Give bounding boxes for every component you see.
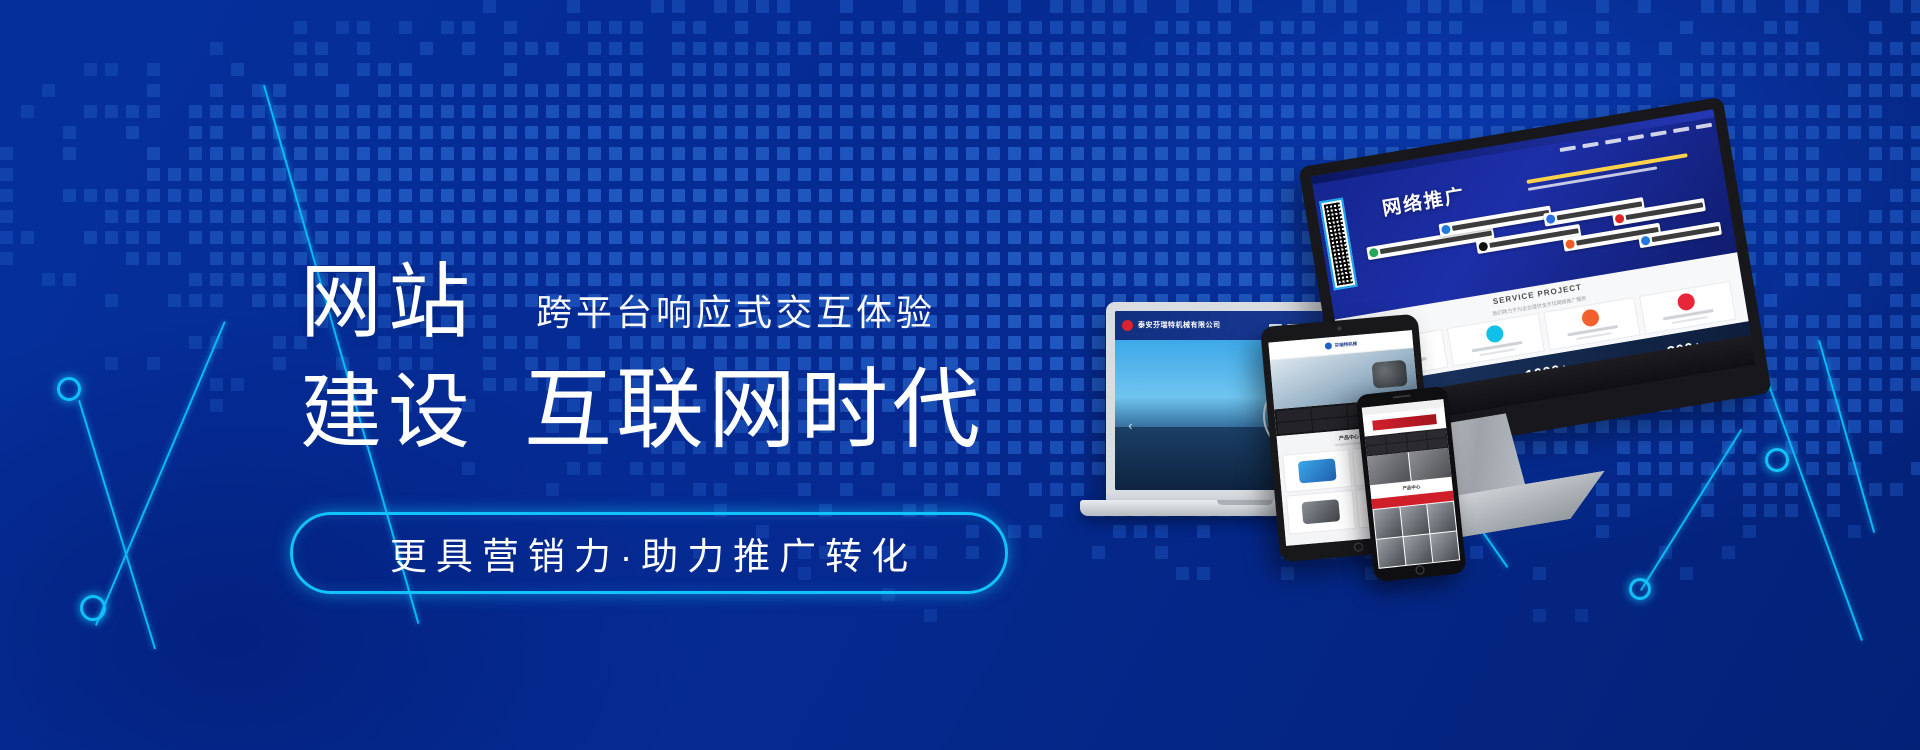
background-dot xyxy=(903,84,916,97)
partner-logo-icon xyxy=(1478,242,1488,252)
background-dot xyxy=(1785,105,1798,118)
background-dot xyxy=(798,210,811,223)
background-dot xyxy=(378,63,391,76)
background-dot xyxy=(987,21,1000,34)
background-dot xyxy=(1512,84,1525,97)
background-dot xyxy=(1050,483,1063,496)
background-dot xyxy=(273,336,286,349)
background-dot xyxy=(504,231,517,244)
background-dot xyxy=(504,84,517,97)
background-dot xyxy=(462,189,475,202)
background-dot xyxy=(147,63,160,76)
background-dot xyxy=(1134,63,1147,76)
background-dot xyxy=(336,231,349,244)
background-dot xyxy=(693,21,706,34)
background-dot xyxy=(1407,42,1420,55)
partner-logo-icon xyxy=(1546,214,1556,224)
background-dot xyxy=(756,105,769,118)
background-dot xyxy=(1386,42,1399,55)
background-dot xyxy=(252,105,265,118)
background-dot xyxy=(1890,84,1903,97)
background-dot xyxy=(1470,63,1483,76)
background-dot xyxy=(777,147,790,160)
background-dot xyxy=(1344,63,1357,76)
background-dot xyxy=(777,63,790,76)
background-dot xyxy=(630,168,643,181)
background-dot xyxy=(651,0,664,13)
background-dot xyxy=(273,84,286,97)
background-dot xyxy=(882,147,895,160)
background-dot xyxy=(966,168,979,181)
laptop-site-logo-icon xyxy=(1122,320,1133,331)
background-dot xyxy=(210,378,223,391)
background-dot xyxy=(1050,168,1063,181)
background-dot xyxy=(861,21,874,34)
background-dot xyxy=(588,147,601,160)
phone-product-image xyxy=(1400,505,1429,536)
background-dot xyxy=(147,147,160,160)
background-dot xyxy=(1743,63,1756,76)
background-dot xyxy=(546,126,559,139)
background-dot xyxy=(1911,84,1920,97)
background-dot xyxy=(1848,336,1861,349)
tablet-home-button[interactable] xyxy=(1354,542,1364,552)
background-dot xyxy=(735,42,748,55)
background-dot xyxy=(1701,42,1714,55)
background-dot xyxy=(441,126,454,139)
background-dot xyxy=(609,231,622,244)
background-dot xyxy=(966,42,979,55)
background-dot xyxy=(483,105,496,118)
background-dot xyxy=(609,21,622,34)
background-dot xyxy=(147,252,160,265)
background-dot xyxy=(1764,42,1777,55)
background-dot xyxy=(798,189,811,202)
background-dot xyxy=(21,105,34,118)
background-dot xyxy=(84,105,97,118)
background-dot xyxy=(945,231,958,244)
background-dot xyxy=(1008,126,1021,139)
background-dot xyxy=(609,126,622,139)
background-dot xyxy=(735,105,748,118)
background-dot xyxy=(357,210,370,223)
background-dot xyxy=(1911,294,1920,307)
background-dot xyxy=(294,210,307,223)
background-dot xyxy=(672,231,685,244)
background-dot xyxy=(840,84,853,97)
background-dot xyxy=(567,105,580,118)
background-dot xyxy=(840,63,853,76)
background-dot xyxy=(1386,105,1399,118)
background-dot xyxy=(1869,420,1882,433)
background-dot xyxy=(1428,63,1441,76)
background-dot xyxy=(924,105,937,118)
background-dot xyxy=(294,126,307,139)
background-dot xyxy=(672,462,685,475)
background-dot xyxy=(588,63,601,76)
background-dot xyxy=(1029,483,1042,496)
background-dot xyxy=(0,210,13,223)
background-dot xyxy=(693,168,706,181)
background-dot xyxy=(798,168,811,181)
background-dot xyxy=(567,84,580,97)
background-dot xyxy=(630,84,643,97)
background-dot xyxy=(1638,63,1651,76)
background-dot xyxy=(882,63,895,76)
background-dot xyxy=(1344,105,1357,118)
background-dot xyxy=(420,210,433,223)
background-dot xyxy=(1722,63,1735,76)
background-dot xyxy=(336,147,349,160)
background-dot xyxy=(1008,189,1021,202)
background-dot xyxy=(105,357,118,370)
background-dot xyxy=(525,105,538,118)
background-dot xyxy=(777,105,790,118)
background-dot xyxy=(252,84,265,97)
background-dot xyxy=(378,105,391,118)
background-dot xyxy=(210,252,223,265)
headline-keyword-1: 网站 xyxy=(300,262,476,344)
background-dot xyxy=(693,105,706,118)
background-dot xyxy=(1869,336,1882,349)
background-dot xyxy=(945,21,958,34)
background-dot xyxy=(945,63,958,76)
background-dot xyxy=(1029,126,1042,139)
background-dot xyxy=(1008,231,1021,244)
background-dot xyxy=(462,42,475,55)
background-dot xyxy=(714,0,727,13)
background-dot xyxy=(1218,42,1231,55)
background-dot xyxy=(819,63,832,76)
background-dot xyxy=(1869,42,1882,55)
background-dot xyxy=(189,126,202,139)
background-dot xyxy=(1008,168,1021,181)
background-dot xyxy=(798,462,811,475)
background-dot xyxy=(1869,126,1882,139)
background-dot xyxy=(1050,504,1063,517)
background-dot xyxy=(966,63,979,76)
background-dot xyxy=(819,126,832,139)
partner-chip xyxy=(1366,226,1494,260)
background-dot xyxy=(861,189,874,202)
background-dot xyxy=(693,84,706,97)
phone-mockup: 产品中心 xyxy=(1355,386,1466,583)
background-dot xyxy=(840,42,853,55)
background-dot xyxy=(924,231,937,244)
background-dot xyxy=(588,462,601,475)
background-dot xyxy=(651,84,664,97)
background-dot xyxy=(945,126,958,139)
background-dot xyxy=(1428,21,1441,34)
background-dot xyxy=(756,168,769,181)
background-dot xyxy=(567,462,580,475)
background-dot xyxy=(882,84,895,97)
background-dot xyxy=(903,0,916,13)
background-dot xyxy=(1239,63,1252,76)
background-dot xyxy=(651,147,664,160)
background-dot xyxy=(1113,0,1126,13)
background-dot xyxy=(252,189,265,202)
background-dot xyxy=(903,210,916,223)
background-dot xyxy=(1344,0,1357,13)
background-dot xyxy=(1848,0,1861,13)
background-dot xyxy=(420,231,433,244)
monitor-nav-item xyxy=(1673,127,1689,134)
background-dot xyxy=(861,126,874,139)
background-dot xyxy=(378,147,391,160)
background-dot xyxy=(399,21,412,34)
background-dot xyxy=(1008,462,1021,475)
background-dot xyxy=(231,147,244,160)
background-dot xyxy=(1869,21,1882,34)
background-dot xyxy=(924,147,937,160)
background-dot xyxy=(966,105,979,118)
background-dot xyxy=(1806,42,1819,55)
background-dot xyxy=(882,42,895,55)
background-dot xyxy=(378,126,391,139)
background-dot xyxy=(420,189,433,202)
diagonal-line-2 xyxy=(78,400,156,649)
background-dot xyxy=(882,126,895,139)
background-dot xyxy=(777,189,790,202)
background-dot xyxy=(630,21,643,34)
background-dot xyxy=(1869,378,1882,391)
background-dot xyxy=(504,210,517,223)
background-dot xyxy=(525,84,538,97)
background-dot xyxy=(378,168,391,181)
phone-home-button[interactable] xyxy=(1415,565,1425,575)
background-dot xyxy=(1281,21,1294,34)
background-dot xyxy=(1008,147,1021,160)
background-dot xyxy=(189,273,202,286)
background-dot xyxy=(1428,0,1441,13)
background-dot xyxy=(1911,147,1920,160)
background-dot xyxy=(462,462,475,475)
background-dot xyxy=(1050,210,1063,223)
background-dot xyxy=(924,42,937,55)
headline-row-2: 建设 互联网时代 xyxy=(300,366,1100,454)
tablet-nav-item xyxy=(1277,420,1312,434)
background-dot xyxy=(819,105,832,118)
background-dot xyxy=(420,105,433,118)
background-dot xyxy=(1428,105,1441,118)
background-dot xyxy=(1848,399,1861,412)
background-dot xyxy=(1323,0,1336,13)
background-dot xyxy=(840,462,853,475)
background-dot xyxy=(126,231,139,244)
background-dot xyxy=(1407,0,1420,13)
background-dot xyxy=(567,231,580,244)
background-dot xyxy=(294,105,307,118)
background-dot xyxy=(546,210,559,223)
background-dot xyxy=(1428,42,1441,55)
background-dot xyxy=(987,210,1000,223)
background-dot xyxy=(462,231,475,244)
background-dot xyxy=(0,231,13,244)
background-dot xyxy=(1008,21,1021,34)
background-dot xyxy=(1890,273,1903,286)
background-dot xyxy=(1848,84,1861,97)
background-dot xyxy=(672,126,685,139)
background-dot xyxy=(840,210,853,223)
background-dot xyxy=(1890,231,1903,244)
background-dot xyxy=(924,63,937,76)
background-dot xyxy=(1596,84,1609,97)
background-dot xyxy=(1386,63,1399,76)
background-dot xyxy=(1029,525,1042,538)
background-dot xyxy=(609,63,622,76)
background-dot xyxy=(294,189,307,202)
background-dot xyxy=(840,147,853,160)
background-dot xyxy=(399,231,412,244)
background-dot xyxy=(1722,0,1735,13)
background-dot xyxy=(210,336,223,349)
background-dot xyxy=(210,294,223,307)
background-dot xyxy=(1575,42,1588,55)
background-dot xyxy=(714,231,727,244)
background-dot xyxy=(735,189,748,202)
background-dot xyxy=(231,168,244,181)
tablet-camera-icon xyxy=(1337,326,1341,330)
background-dot xyxy=(924,483,937,496)
background-dot xyxy=(168,252,181,265)
background-dot xyxy=(693,147,706,160)
background-dot xyxy=(1365,63,1378,76)
background-dot xyxy=(252,210,265,223)
background-dot xyxy=(504,105,517,118)
background-dot xyxy=(1911,252,1920,265)
hero-banner: 网站 跨平台响应式交互体验 建设 互联网时代 更具营销力·助力推广转化 泰安芬瑞… xyxy=(0,0,1920,750)
background-dot xyxy=(1890,147,1903,160)
background-dot xyxy=(231,189,244,202)
background-dot xyxy=(1281,42,1294,55)
background-dot xyxy=(924,210,937,223)
background-dot xyxy=(1764,63,1777,76)
headline-row-1: 网站 跨平台响应式交互体验 xyxy=(300,262,1100,344)
background-dot xyxy=(1512,0,1525,13)
background-dot xyxy=(777,42,790,55)
background-dot xyxy=(294,147,307,160)
background-dot xyxy=(714,42,727,55)
background-dot xyxy=(462,84,475,97)
background-dot xyxy=(756,189,769,202)
background-dot xyxy=(1554,84,1567,97)
background-dot xyxy=(84,63,97,76)
background-dot xyxy=(63,126,76,139)
background-dot xyxy=(672,0,685,13)
background-dot xyxy=(1050,189,1063,202)
phone-product-image xyxy=(1430,531,1459,562)
background-dot xyxy=(1890,378,1903,391)
background-dot xyxy=(210,231,223,244)
background-dot xyxy=(105,63,118,76)
background-dot xyxy=(105,231,118,244)
background-dot xyxy=(1890,63,1903,76)
background-dot xyxy=(1869,63,1882,76)
background-dot xyxy=(567,126,580,139)
background-dot xyxy=(1848,357,1861,370)
background-dot xyxy=(525,231,538,244)
background-dot xyxy=(1470,0,1483,13)
background-dot xyxy=(798,126,811,139)
background-dot xyxy=(966,84,979,97)
background-dot xyxy=(693,210,706,223)
background-dot xyxy=(315,126,328,139)
background-dot xyxy=(1176,21,1189,34)
background-dot xyxy=(1344,42,1357,55)
background-dot xyxy=(756,462,769,475)
background-dot xyxy=(273,189,286,202)
background-dot xyxy=(1806,105,1819,118)
headline-keyword-2: 建设 xyxy=(300,372,476,454)
background-dot xyxy=(1491,63,1504,76)
background-dot xyxy=(1848,315,1861,328)
background-dot xyxy=(945,168,958,181)
background-dot xyxy=(1050,0,1063,13)
background-dot xyxy=(1890,210,1903,223)
background-dot xyxy=(1197,21,1210,34)
background-dot xyxy=(987,105,1000,118)
background-dot xyxy=(1344,84,1357,97)
background-dot xyxy=(42,273,55,286)
background-dot xyxy=(252,126,265,139)
background-dot xyxy=(1008,63,1021,76)
background-dot xyxy=(777,21,790,34)
background-dot xyxy=(1407,21,1420,34)
background-dot xyxy=(882,105,895,118)
background-dot xyxy=(441,105,454,118)
background-dot xyxy=(1239,0,1252,13)
background-dot xyxy=(504,147,517,160)
background-dot xyxy=(1260,84,1273,97)
background-dot xyxy=(819,189,832,202)
background-dot xyxy=(1680,84,1693,97)
tablet-site-brand: 芬瑞特机械 xyxy=(1334,341,1357,349)
background-dot xyxy=(1869,147,1882,160)
background-dot xyxy=(714,483,727,496)
background-dot xyxy=(651,126,664,139)
background-dot xyxy=(1533,42,1546,55)
background-dot xyxy=(105,105,118,118)
background-dot xyxy=(1092,0,1105,13)
background-dot xyxy=(1827,105,1840,118)
background-dot xyxy=(441,168,454,181)
product-image xyxy=(1301,500,1340,525)
background-dot xyxy=(1680,63,1693,76)
background-dot xyxy=(0,252,13,265)
background-dot xyxy=(1029,147,1042,160)
product-image xyxy=(1297,458,1336,483)
background-dot xyxy=(1260,63,1273,76)
background-dot xyxy=(840,0,853,13)
background-dot xyxy=(819,168,832,181)
background-dot xyxy=(987,63,1000,76)
background-dot xyxy=(504,126,517,139)
background-dot xyxy=(903,21,916,34)
background-dot xyxy=(525,42,538,55)
background-dot xyxy=(315,210,328,223)
background-dot xyxy=(735,126,748,139)
partner-logo-icon xyxy=(1614,214,1624,224)
background-dot xyxy=(1407,63,1420,76)
background-dot xyxy=(1911,210,1920,223)
background-dot xyxy=(294,231,307,244)
background-dot xyxy=(735,147,748,160)
background-dot xyxy=(903,189,916,202)
background-dot xyxy=(378,231,391,244)
background-dot xyxy=(756,210,769,223)
phone-screen: 产品中心 xyxy=(1362,399,1460,569)
